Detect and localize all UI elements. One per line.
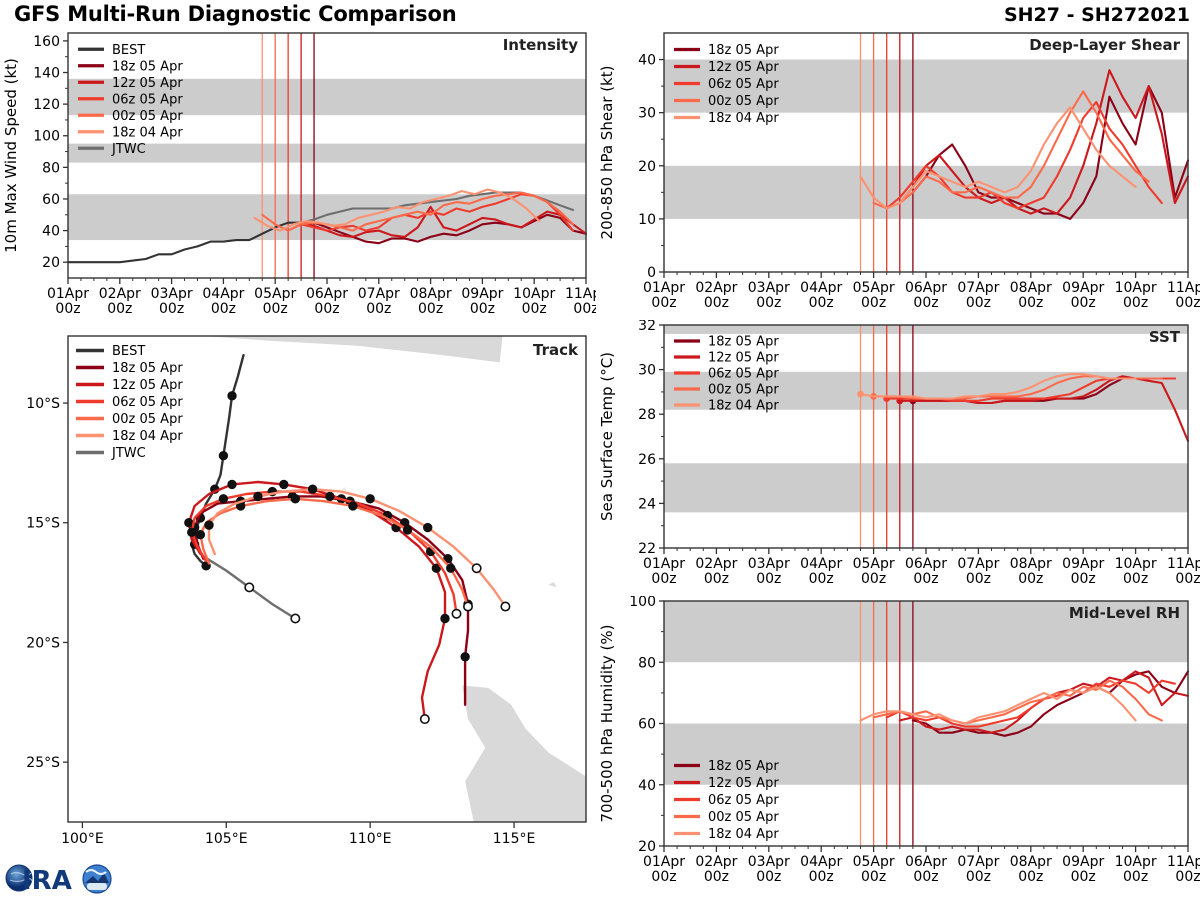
legend-label: 18z 05 Apr (708, 335, 779, 350)
legend-label: 06z 05 Apr (708, 367, 779, 382)
x-tick-date: 08Apr (1010, 556, 1052, 572)
x-tick-hour: 00z (1018, 869, 1043, 885)
x-tick-date: 09Apr (461, 286, 503, 302)
x-tick-date: 07Apr (957, 854, 999, 870)
track-marker-open (472, 564, 480, 572)
legend-label: 12z 05 Apr (112, 76, 183, 91)
x-tick-date: 04Apr (800, 854, 842, 870)
legend-label: 12z 05 Apr (708, 776, 779, 791)
track-marker-filled (349, 502, 357, 510)
x-tick-hour: 00z (756, 295, 781, 311)
panel-title: Intensity (503, 36, 579, 54)
track-marker-filled (205, 521, 213, 529)
track-marker-open (464, 602, 472, 610)
x-tick-hour: 00z (1123, 869, 1148, 885)
x-tick-hour: 00z (651, 571, 676, 587)
track-marker-filled (403, 526, 411, 534)
y-tick-label: 20 (42, 255, 60, 271)
y-tick-label: 26 (638, 452, 656, 468)
x-tick-date: 02Apr (695, 280, 737, 296)
x-tick-date: 09Apr (1062, 556, 1104, 572)
x-tick-date: 03Apr (748, 854, 790, 870)
legend-label: 18z 04 Apr (708, 827, 779, 842)
y-tick-label: 60 (638, 717, 656, 733)
track-marker-open (421, 715, 429, 723)
track-marker-filled (219, 452, 227, 460)
y-tick-label: 28 (638, 407, 656, 423)
x-tick-hour: 00z (418, 301, 443, 317)
shaded-band (664, 463, 1188, 512)
legend-label: 00z 05 Apr (708, 810, 779, 825)
legend-label: 00z 05 Apr (112, 109, 183, 124)
legend-label: 18z 04 Apr (708, 399, 779, 414)
x-tick-hour: 00z (966, 869, 991, 885)
x-tick-hour: 00z (861, 295, 886, 311)
x-tick-hour: 00z (159, 301, 184, 317)
track-marker-filled (228, 480, 236, 488)
x-tick-hour: 00z (1018, 295, 1043, 311)
y-tick-label: 40 (42, 224, 60, 240)
legend-label: 18z 04 Apr (708, 111, 779, 126)
x-tick-date: 01Apr (643, 280, 685, 296)
page-title: GFS Multi-Run Diagnostic Comparison (14, 2, 456, 26)
lon-tick-label: 115°E (493, 831, 536, 847)
x-tick-hour: 00z (573, 301, 596, 317)
x-tick-date: 05Apr (853, 280, 895, 296)
legend-label: 12z 05 Apr (708, 351, 779, 366)
y-tick-label: 30 (638, 106, 656, 122)
cira-logo: IRA (4, 858, 116, 898)
shaded-band (68, 194, 586, 240)
track-marker-filled (219, 495, 227, 503)
y-tick-label: 100 (629, 596, 656, 610)
track-marker-filled (291, 495, 299, 503)
x-tick-hour: 00z (809, 571, 834, 587)
x-tick-hour: 00z (263, 301, 288, 317)
y-tick-label: 20 (638, 159, 656, 175)
x-tick-hour: 00z (966, 571, 991, 587)
x-tick-hour: 00z (1175, 869, 1200, 885)
x-tick-date: 08Apr (1010, 280, 1052, 296)
legend-label: BEST (112, 344, 145, 359)
legend-label: BEST (112, 43, 145, 58)
legend-label: 18z 05 Apr (112, 59, 183, 74)
x-tick-date: 03Apr (151, 286, 193, 302)
x-tick-date: 07Apr (358, 286, 400, 302)
track-marker-open (501, 602, 509, 610)
track-marker-open (452, 610, 460, 618)
x-tick-date: 06Apr (905, 854, 947, 870)
y-tick-label: 40 (638, 778, 656, 794)
x-tick-hour: 00z (1175, 295, 1200, 311)
track-marker-filled (461, 653, 469, 661)
legend-label: 00z 05 Apr (708, 94, 779, 109)
lat-tick-label: 25°S (26, 755, 60, 771)
panel-title: SST (1149, 328, 1181, 346)
x-tick-hour: 00z (913, 571, 938, 587)
x-tick-hour: 00z (1175, 571, 1200, 587)
track-marker-filled (196, 531, 204, 539)
legend-label: 18z 05 Apr (708, 43, 779, 58)
y-tick-label: 0 (647, 265, 656, 281)
x-tick-hour: 00z (913, 295, 938, 311)
lon-tick-label: 100°E (61, 831, 104, 847)
legend-label: 00z 05 Apr (112, 412, 183, 427)
x-tick-date: 08Apr (1010, 854, 1052, 870)
x-tick-hour: 00z (55, 301, 80, 317)
x-tick-date: 04Apr (202, 286, 244, 302)
x-tick-hour: 00z (809, 869, 834, 885)
legend-label: 12z 05 Apr (112, 378, 183, 393)
panel-sst: 22242628303201Apr00z02Apr00z03Apr00z04Ap… (596, 320, 1200, 596)
legend-label: 18z 04 Apr (112, 429, 183, 444)
x-tick-date: 07Apr (957, 556, 999, 572)
track-marker-filled (326, 492, 334, 500)
panel-rh: 2040608010001Apr00z02Apr00z03Apr00z04Apr… (596, 596, 1200, 896)
x-tick-date: 10Apr (1115, 854, 1157, 870)
x-tick-hour: 00z (1071, 869, 1096, 885)
legend-label: JTWC (111, 142, 146, 157)
y-tick-label: 22 (638, 541, 656, 557)
panel-shear: 01020304001Apr00z02Apr00z03Apr00z04Apr00… (596, 28, 1200, 320)
x-tick-date: 10Apr (1115, 556, 1157, 572)
x-tick-hour: 00z (861, 869, 886, 885)
x-tick-date: 05Apr (853, 854, 895, 870)
x-tick-date: 03Apr (748, 280, 790, 296)
x-tick-hour: 00z (314, 301, 339, 317)
legend-label: 06z 05 Apr (112, 92, 183, 107)
panel-title: Deep-Layer Shear (1029, 36, 1180, 54)
y-axis-label: 700-500 hPa Humidity (%) (598, 624, 616, 822)
y-tick-label: 30 (638, 363, 656, 379)
y-tick-label: 80 (638, 655, 656, 671)
legend-label: 18z 05 Apr (112, 361, 183, 376)
lon-tick-label: 110°E (349, 831, 392, 847)
track-marker-filled (441, 614, 449, 622)
x-tick-date: 05Apr (254, 286, 296, 302)
track-marker-filled (228, 392, 236, 400)
legend-label: 06z 05 Apr (112, 395, 183, 410)
x-tick-hour: 00z (107, 301, 132, 317)
track-marker-filled (280, 480, 288, 488)
track-marker-filled (188, 528, 196, 536)
x-tick-hour: 00z (366, 301, 391, 317)
x-tick-date: 02Apr (99, 286, 141, 302)
y-tick-label: 60 (42, 192, 60, 208)
lat-tick-label: 15°S (26, 516, 60, 532)
x-tick-date: 01Apr (643, 854, 685, 870)
lon-tick-label: 105°E (205, 831, 248, 847)
track-marker-filled (424, 523, 432, 531)
x-tick-date: 04Apr (800, 280, 842, 296)
x-tick-date: 02Apr (695, 854, 737, 870)
x-tick-date: 06Apr (306, 286, 348, 302)
x-tick-date: 03Apr (748, 556, 790, 572)
x-tick-hour: 00z (470, 301, 495, 317)
x-tick-hour: 00z (913, 869, 938, 885)
y-axis-label: 10m Max Wind Speed (kt) (2, 58, 20, 253)
series-start-marker (857, 391, 864, 398)
x-tick-date: 11Apr (565, 286, 596, 302)
track-marker-filled (366, 495, 374, 503)
legend-label: 18z 04 Apr (112, 125, 183, 140)
x-tick-date: 01Apr (47, 286, 89, 302)
header-bar: GFS Multi-Run Diagnostic Comparison SH27… (0, 0, 1200, 30)
x-tick-hour: 00z (756, 571, 781, 587)
y-tick-label: 100 (33, 129, 60, 145)
x-tick-date: 09Apr (1062, 280, 1104, 296)
x-tick-hour: 00z (861, 571, 886, 587)
y-tick-label: 140 (33, 66, 60, 82)
x-tick-hour: 00z (704, 869, 729, 885)
x-tick-date: 11Apr (1167, 280, 1200, 296)
storm-id-title: SH27 - SH272021 (1004, 4, 1190, 26)
x-tick-hour: 00z (1018, 571, 1043, 587)
legend-label: 06z 05 Apr (708, 77, 779, 92)
x-tick-hour: 00z (966, 295, 991, 311)
x-tick-hour: 00z (1071, 295, 1096, 311)
x-tick-date: 04Apr (800, 556, 842, 572)
x-tick-date: 11Apr (1167, 556, 1200, 572)
x-tick-date: 09Apr (1062, 854, 1104, 870)
shaded-band (664, 166, 1188, 219)
panel-title: Mid-Level RH (1069, 604, 1180, 622)
y-tick-label: 160 (33, 34, 60, 50)
panel-intensity: 2040608010012014016001Apr00z02Apr00z03Ap… (0, 28, 596, 328)
svg-text:IRA: IRA (22, 866, 72, 896)
x-tick-date: 07Apr (957, 280, 999, 296)
y-tick-label: 20 (638, 839, 656, 855)
y-tick-label: 80 (42, 160, 60, 176)
legend-label: 06z 05 Apr (708, 793, 779, 808)
shaded-band (664, 325, 1188, 334)
x-tick-hour: 00z (522, 301, 547, 317)
x-tick-date: 11Apr (1167, 854, 1200, 870)
x-tick-hour: 00z (809, 295, 834, 311)
y-axis-label: 200-850 hPa Shear (kt) (598, 66, 616, 240)
track-marker-filled (447, 564, 455, 572)
x-tick-date: 06Apr (905, 556, 947, 572)
panel-track: 10°S15°S20°S25°S100°E105°E110°E115°ETrac… (0, 328, 596, 868)
y-axis-label: Sea Surface Temp (°C) (598, 352, 616, 521)
x-tick-hour: 00z (756, 869, 781, 885)
y-tick-label: 32 (638, 320, 656, 334)
x-tick-hour: 00z (651, 295, 676, 311)
x-tick-hour: 00z (1071, 571, 1096, 587)
x-tick-date: 10Apr (1115, 280, 1157, 296)
legend-label: 12z 05 Apr (708, 60, 779, 75)
y-tick-label: 120 (33, 97, 60, 113)
track-marker-open (291, 614, 299, 622)
legend-label: JTWC (111, 446, 146, 461)
legend-label: 18z 05 Apr (708, 759, 779, 774)
x-tick-hour: 00z (211, 301, 236, 317)
x-tick-hour: 00z (1123, 571, 1148, 587)
x-tick-date: 01Apr (643, 556, 685, 572)
track-marker-filled (254, 492, 262, 500)
track-marker-open (245, 583, 253, 591)
x-tick-hour: 00z (1123, 295, 1148, 311)
x-tick-date: 06Apr (905, 280, 947, 296)
x-tick-date: 02Apr (695, 556, 737, 572)
x-tick-hour: 00z (704, 295, 729, 311)
legend-label: 00z 05 Apr (708, 383, 779, 398)
track-marker-filled (185, 519, 193, 527)
lat-tick-label: 10°S (26, 396, 60, 412)
y-tick-label: 10 (638, 212, 656, 228)
track-marker-filled (308, 485, 316, 493)
x-tick-date: 10Apr (513, 286, 555, 302)
panel-title: Track (533, 341, 579, 359)
lat-tick-label: 20°S (26, 635, 60, 651)
x-tick-date: 08Apr (410, 286, 452, 302)
x-tick-hour: 00z (651, 869, 676, 885)
x-tick-hour: 00z (704, 571, 729, 587)
y-tick-label: 40 (638, 53, 656, 69)
x-tick-date: 05Apr (853, 556, 895, 572)
y-tick-label: 24 (638, 496, 656, 512)
